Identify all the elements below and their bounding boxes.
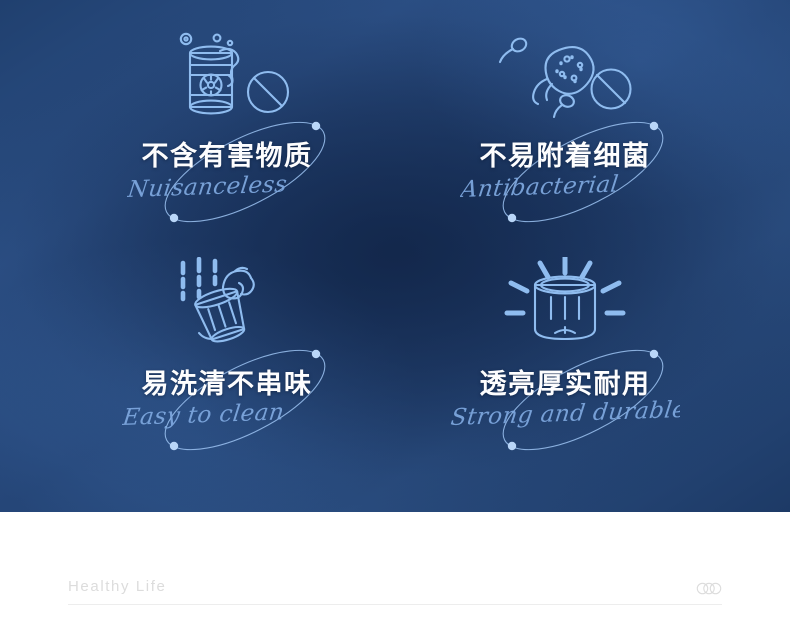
script-antibacterial: Antibacterial — [460, 172, 670, 206]
feature-icon-slot — [62, 22, 392, 128]
page-footer: Healthy Life — [0, 512, 790, 641]
feature-title-cn: 不易附着细菌 — [400, 134, 730, 173]
script-text: Nuisanceless — [127, 172, 289, 203]
feature-card-easy-to-clean: 易洗清不串味 Easy to clean — [62, 250, 392, 478]
feature-subtitle-en: Antibacterial — [400, 172, 730, 206]
feature-subtitle-en: Easy to clean — [62, 400, 392, 434]
feature-card-strong-and-durable: 透亮厚实耐用 Strong and durable — [400, 250, 730, 478]
feature-grid: 不含有害物质 Nuisanceless — [0, 0, 790, 512]
script-strong-and-durable: Strong and durable — [450, 400, 680, 434]
feature-icon-slot — [400, 22, 730, 128]
footer-row: Healthy Life — [68, 578, 722, 595]
bacteria-prohibited-icon — [495, 29, 635, 121]
feature-title-cn: 易洗清不串味 — [62, 362, 392, 401]
feature-card-antibacterial: 不易附着细菌 Antibacterial — [400, 22, 730, 250]
cup-under-faucet-icon — [161, 257, 293, 349]
feature-card-no-harmful-substances: 不含有害物质 Nuisanceless — [62, 22, 392, 250]
footer-brand-label: Healthy Life — [68, 578, 166, 595]
script-text: Easy to clean — [122, 400, 286, 431]
feature-subtitle-en: Nuisanceless — [62, 172, 392, 206]
script-text: Strong and durable — [450, 400, 680, 431]
product-feature-page: 不含有害物质 Nuisanceless — [0, 0, 790, 641]
script-nuisanceless: Nuisanceless — [127, 172, 327, 206]
script-text: Antibacterial — [460, 172, 620, 203]
feature-subtitle-en: Strong and durable — [400, 400, 730, 434]
feature-icon-slot — [400, 250, 730, 356]
script-easy-to-clean: Easy to clean — [122, 400, 332, 434]
footer-content: Healthy Life — [68, 578, 722, 605]
shining-glass-cup-icon — [495, 257, 635, 349]
feature-title-cn: 不含有害物质 — [62, 134, 392, 173]
feature-icon-slot — [62, 250, 392, 356]
chemical-barrel-prohibited-icon — [160, 29, 294, 121]
footer-divider — [68, 604, 722, 605]
hero-banner: 不含有害物质 Nuisanceless — [0, 0, 790, 512]
three-interlocking-rings-icon — [696, 582, 722, 595]
feature-title-cn: 透亮厚实耐用 — [400, 362, 730, 401]
